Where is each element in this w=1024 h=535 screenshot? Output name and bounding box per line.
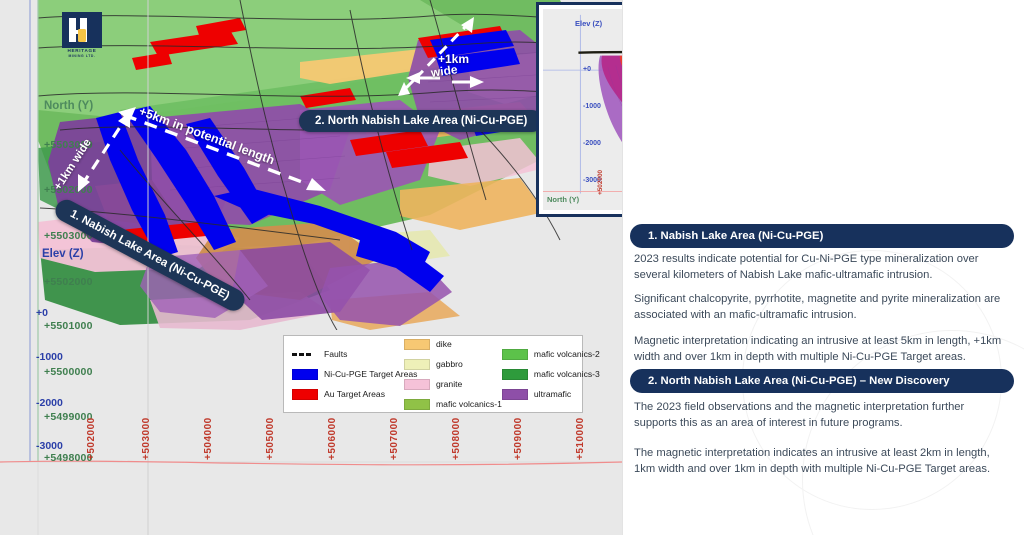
paragraph-1: 2023 results indicate potential for Cu-N… [634, 252, 1004, 284]
swatch-granite [404, 379, 430, 390]
paragraph-3: Magnetic interpretation indicating an in… [634, 334, 1004, 366]
map-east-tick-5: +507000 [389, 406, 400, 460]
swatch-mafic-volcanics-2 [502, 349, 528, 360]
legend-column-1: Faults Ni-Cu-PGE Target Areas Au Target … [292, 348, 404, 401]
inset-north-axis-title: North (Y) [547, 195, 579, 204]
map-legend: Faults Ni-Cu-PGE Target Areas Au Target … [283, 335, 583, 413]
logo-subtitle: MINING LTD. [60, 54, 104, 58]
map-north-axis-title: North (Y) [44, 100, 93, 112]
slide-root: HERITAGE MINING LTD. North (Y) Elev (Z) … [0, 0, 1024, 535]
legend-label: mafic volcanics-3 [534, 370, 600, 379]
section-header-north-nabish-lake: 2. North Nabish Lake Area (Ni-Cu-PGE) – … [630, 369, 1014, 393]
geology-map-panel: HERITAGE MINING LTD. North (Y) Elev (Z) … [0, 0, 622, 535]
inset-east-tick-0: +502000 [597, 159, 604, 195]
map-east-tick-3: +505000 [265, 406, 276, 460]
legend-item-ultramafic: ultramafic [502, 388, 594, 401]
map-east-tick-8: +510000 [575, 406, 586, 460]
swatch-mafic-volcanics-3 [502, 369, 528, 380]
legend-item-mafic-volcanics-1: mafic volcanics-1 [404, 398, 502, 411]
map-elev-tick-2: -2000 [36, 397, 63, 409]
swatch-dike [404, 339, 430, 350]
legend-label: mafic volcanics-2 [534, 350, 600, 359]
legend-label: granite [436, 380, 462, 389]
heritage-mining-logo: HERITAGE MINING LTD. [60, 12, 104, 56]
map-north-tick-5: +5500000 [44, 366, 93, 378]
legend-item-au: Au Target Areas [292, 388, 404, 401]
map-elev-axis-title: Elev (Z) [42, 248, 84, 260]
legend-item-mafic-volcanics-3: mafic volcanics-3 [502, 368, 594, 381]
panel-divider [622, 0, 623, 535]
legend-item-mafic-volcanics-2: mafic volcanics-2 [502, 348, 594, 361]
map-elev-tick-1: -1000 [36, 351, 63, 363]
legend-label: ultramafic [534, 390, 571, 399]
map-elev-tick-3: -3000 [36, 440, 63, 452]
legend-item-faults: Faults [292, 348, 404, 361]
map-east-tick-1: +503000 [141, 406, 152, 460]
inset-elev-tick-1: -1000 [583, 103, 601, 110]
legend-column-3: mafic volcanics-2 mafic volcanics-3 ultr… [502, 348, 594, 401]
inset-elev-tick-0: +0 [583, 66, 591, 73]
swatch-gabbro [404, 359, 430, 370]
legend-label: Au Target Areas [324, 390, 385, 399]
legend-label: mafic volcanics-1 [436, 400, 502, 409]
map-north-tick-3: +5502000 [44, 276, 93, 288]
paragraph-2: Significant chalcopyrite, pyrrhotite, ma… [634, 292, 1004, 324]
map-callout-north-nabish[interactable]: 2. North Nabish Lake Area (Ni-Cu-PGE) [299, 110, 543, 132]
legend-column-2: dike gabbro granite mafic volcanics-1 [404, 338, 502, 411]
legend-item-granite: granite [404, 378, 502, 391]
legend-label: dike [436, 340, 452, 349]
paragraph-5: The magnetic interpretation indicates an… [634, 446, 1004, 478]
map-east-tick-6: +508000 [451, 406, 462, 460]
inset-elev-axis-title: Elev (Z) [575, 19, 602, 28]
legend-item-dike: dike [404, 338, 502, 351]
legend-label: gabbro [436, 360, 463, 369]
legend-item-gabbro: gabbro [404, 358, 502, 371]
map-elev-tick-0: +0 [36, 307, 48, 319]
map-east-tick-0: +502000 [86, 406, 97, 460]
faults-dashed-icon [292, 349, 318, 360]
inset-elev-tick-2: -2000 [583, 140, 601, 147]
paragraph-4: The 2023 field observations and the magn… [634, 400, 1004, 432]
swatch-ni-cu-pge [292, 369, 318, 380]
section-header-nabish-lake: 1. Nabish Lake Area (Ni-Cu-PGE) [630, 224, 1014, 248]
swatch-au [292, 389, 318, 400]
map-east-tick-4: +506000 [327, 406, 338, 460]
map-east-tick-7: +509000 [513, 406, 524, 460]
map-east-tick-2: +504000 [203, 406, 214, 460]
legend-item-ni-cu-pge: Ni-Cu-PGE Target Areas [292, 368, 404, 381]
swatch-ultramafic [502, 389, 528, 400]
logo-name: HERITAGE [60, 48, 104, 53]
map-north-tick-4: +5501000 [44, 320, 93, 332]
legend-label: Faults [324, 350, 347, 359]
swatch-mafic-volcanics-1 [404, 399, 430, 410]
